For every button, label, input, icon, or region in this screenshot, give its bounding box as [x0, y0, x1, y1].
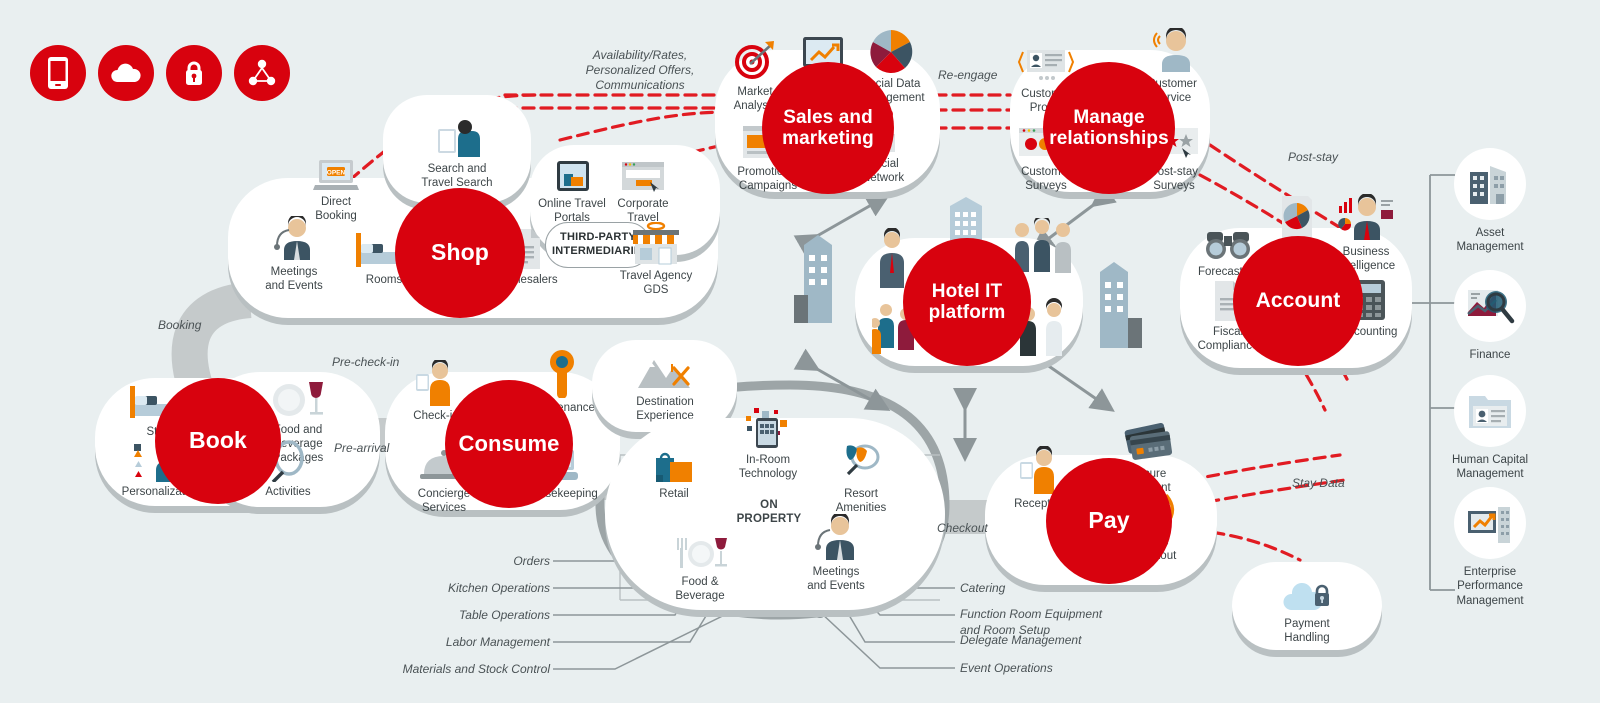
laptop-open-icon: OPEN — [288, 148, 384, 192]
shop-item-corporate-travel[interactable]: Corporate Travel — [595, 150, 691, 225]
hub-account[interactable]: Account — [1233, 236, 1363, 366]
op-item-retail[interactable]: Retail — [630, 440, 718, 501]
hub-hotel-it-platform-label: Hotel IT platform — [929, 281, 1006, 324]
hub-shop[interactable]: Shop — [395, 188, 525, 318]
flow-label-re-engage: Re-engage — [938, 68, 997, 83]
masks-racket-icon — [818, 440, 904, 484]
rail-item-human-capital-management[interactable]: Human Capital Management — [1420, 375, 1560, 482]
mobile-icon — [30, 45, 86, 101]
infographic-canvas: OPEN Direct Booking Search and Travel Se… — [0, 0, 1600, 703]
hub-hotel-it-platform[interactable]: Hotel IT platform — [903, 238, 1031, 366]
storefront-icon — [608, 222, 704, 266]
buildings-icon — [1454, 148, 1526, 220]
hub-consume-label: Consume — [459, 432, 560, 457]
rail-item-asset-management[interactable]: Asset Management — [1420, 148, 1560, 255]
op-item-label: In-Room Technology — [723, 453, 813, 481]
network-icon — [234, 45, 290, 101]
events-callout-delegate-management: Delegate Management — [960, 633, 1180, 649]
svg-text:OPEN: OPEN — [327, 170, 346, 177]
op-item-in-room-technology[interactable]: In-Room Technology — [723, 406, 813, 481]
employee-folder-icon — [1454, 375, 1526, 447]
shop-item-label: Meetings and Events — [246, 265, 342, 293]
payment-handling-item[interactable]: Payment Handling — [1258, 570, 1356, 645]
rail-item-enterprise-performance-management[interactable]: Enterprise Performance Management — [1420, 487, 1560, 608]
mountain-dining-icon — [617, 348, 713, 392]
plate-wine-icon — [655, 528, 745, 572]
account-item-revenue-management[interactable] — [1262, 196, 1332, 240]
hub-sales-marketing[interactable]: Sales and marketing — [762, 62, 894, 194]
credit-cards-icon — [1108, 420, 1188, 464]
hub-consume[interactable]: Consume — [445, 380, 573, 508]
flow-label-availability: Availability/Rates, Personalized Offers,… — [570, 48, 710, 93]
shop-item-direct-booking[interactable]: OPEN Direct Booking — [288, 148, 384, 223]
flow-label-pre-check-in: Pre-check-in — [332, 355, 399, 370]
hub-book-label: Book — [189, 428, 247, 454]
analyst-icon — [1328, 198, 1404, 242]
payment-handling-label: Payment Handling — [1258, 617, 1356, 645]
platform-building-right-icon — [1088, 250, 1146, 365]
shop-item-label: Corporate Travel — [595, 197, 691, 225]
tablet-apps-icon — [723, 406, 813, 450]
cloud-icon — [98, 45, 154, 101]
flow-label-post-stay: Post-stay — [1288, 150, 1338, 165]
on-property-center-label: ON PROPERTY — [728, 498, 810, 526]
op-item-label: Resort Amenities — [818, 487, 904, 515]
headset-agent-icon — [1130, 30, 1214, 74]
hub-pay[interactable]: Pay — [1046, 458, 1172, 584]
hub-manage-relationships-label: Manage relationships — [1049, 107, 1169, 150]
hub-manage-relationships[interactable]: Manage relationships — [1043, 62, 1175, 194]
hub-account-label: Account — [1256, 289, 1341, 313]
pie-report-icon — [1262, 196, 1332, 240]
hub-pay-label: Pay — [1088, 508, 1129, 534]
fnb-callout-table-operations: Table Operations — [380, 608, 550, 624]
fnb-callout-materials-stock-control: Materials and Stock Control — [340, 662, 550, 678]
rail-item-finance[interactable]: Finance — [1420, 270, 1560, 362]
hub-sales-marketing-label: Sales and marketing — [782, 107, 874, 150]
rail-item-label: Finance — [1420, 348, 1560, 362]
shop-item-search-travel[interactable]: Search and Travel Search — [409, 115, 505, 190]
op-item-food-beverage[interactable]: Food & Beverage — [655, 528, 745, 603]
growth-building-icon — [1454, 487, 1526, 559]
browser-window-icon — [595, 150, 691, 194]
op-item-label: Retail — [630, 487, 718, 501]
chart-magnifier-icon — [1454, 270, 1526, 342]
platform-building-left-icon — [790, 225, 850, 340]
events-callout-event-operations: Event Operations — [960, 661, 1180, 677]
hub-book[interactable]: Book — [155, 378, 281, 504]
presenter-icon — [246, 218, 342, 262]
hub-shop-label: Shop — [431, 240, 489, 266]
events-callout-catering: Catering — [960, 581, 1180, 597]
fnb-callout-labor-management: Labor Management — [380, 635, 550, 651]
lock-icon — [166, 45, 222, 101]
rail-item-label: Human Capital Management — [1420, 453, 1560, 482]
flow-label-checkout: Checkout — [937, 521, 988, 536]
rail-item-label: Asset Management — [1420, 226, 1560, 255]
flow-label-stay-data: Stay Data — [1292, 476, 1345, 491]
rail-item-label: Enterprise Performance Management — [1420, 565, 1560, 608]
op-item-label: Food & Beverage — [655, 575, 745, 603]
fnb-callout-kitchen-operations: Kitchen Operations — [380, 581, 550, 597]
capability-badges — [30, 45, 290, 101]
flow-label-pre-arrival: Pre-arrival — [334, 441, 389, 456]
target-icon — [718, 38, 792, 82]
destination-experience-item[interactable]: Destination Experience — [617, 348, 713, 423]
pie-chart-icon — [848, 30, 934, 74]
cloud-lock-icon — [1258, 570, 1356, 614]
shop-item-label: Travel Agency GDS — [608, 269, 704, 297]
flow-label-booking: Booking — [158, 318, 201, 333]
shop-item-travel-agency-gds[interactable]: Travel Agency GDS — [608, 222, 704, 297]
op-item-meetings-events[interactable]: Meetings and Events — [790, 518, 882, 593]
op-item-resort-amenities[interactable]: Resort Amenities — [818, 440, 904, 515]
shop-item-meetings-events[interactable]: Meetings and Events — [246, 218, 342, 293]
person-tablet-icon — [409, 115, 505, 159]
fnb-callout-orders: Orders — [380, 554, 550, 570]
shop-item-label: Search and Travel Search — [409, 162, 505, 190]
op-item-label: Meetings and Events — [790, 565, 882, 593]
shopping-bags-icon — [630, 440, 718, 484]
